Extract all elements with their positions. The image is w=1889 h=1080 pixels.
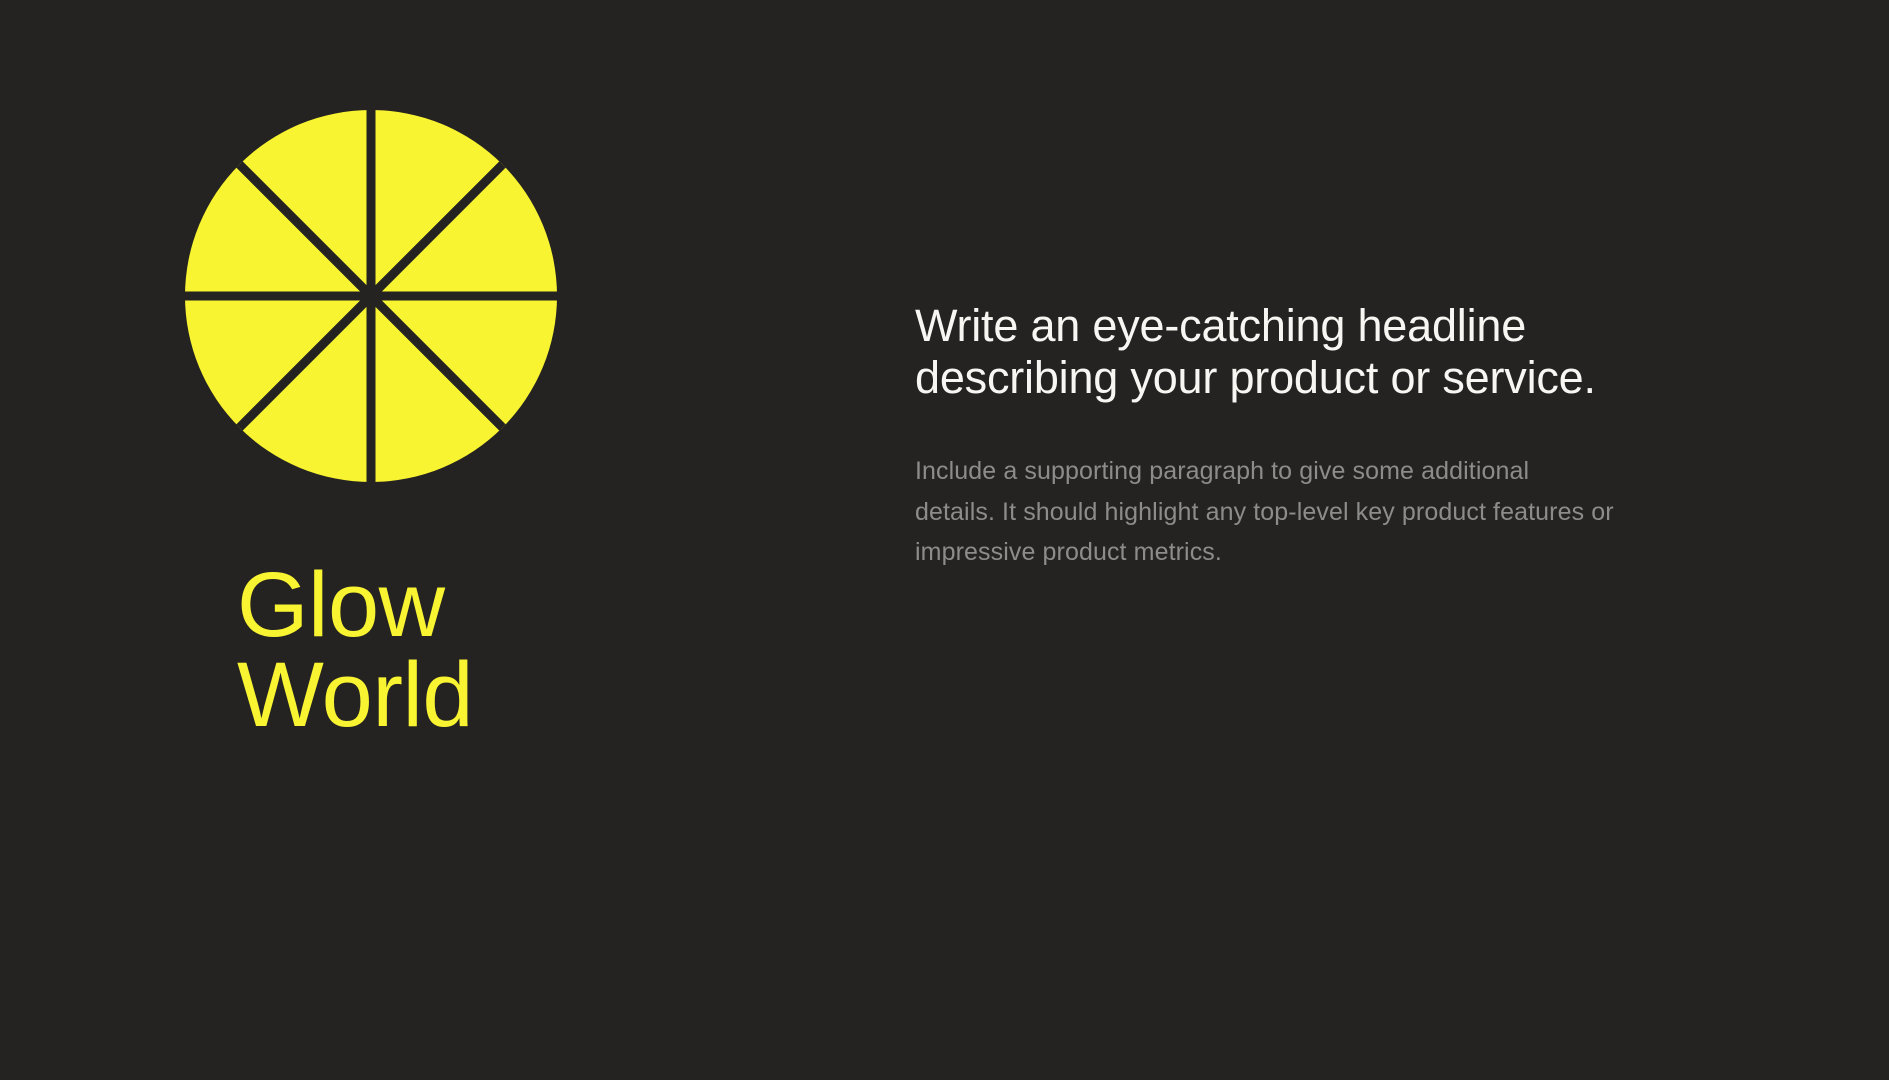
slide-canvas: Glow World Write an eye-catching headlin… (0, 0, 1889, 1080)
supporting-paragraph: Include a supporting paragraph to give s… (915, 404, 1615, 573)
brand-wordmark: Glow World (237, 560, 745, 740)
wordmark-line-1: Glow (237, 560, 745, 650)
brand-lockup: Glow World (185, 110, 745, 740)
eight-wedge-sunburst-circle-icon (185, 110, 557, 482)
page-title: Write an eye-catching headline describin… (915, 300, 1705, 404)
wordmark-line-2: World (237, 650, 745, 740)
content-block: Write an eye-catching headline describin… (915, 300, 1705, 573)
